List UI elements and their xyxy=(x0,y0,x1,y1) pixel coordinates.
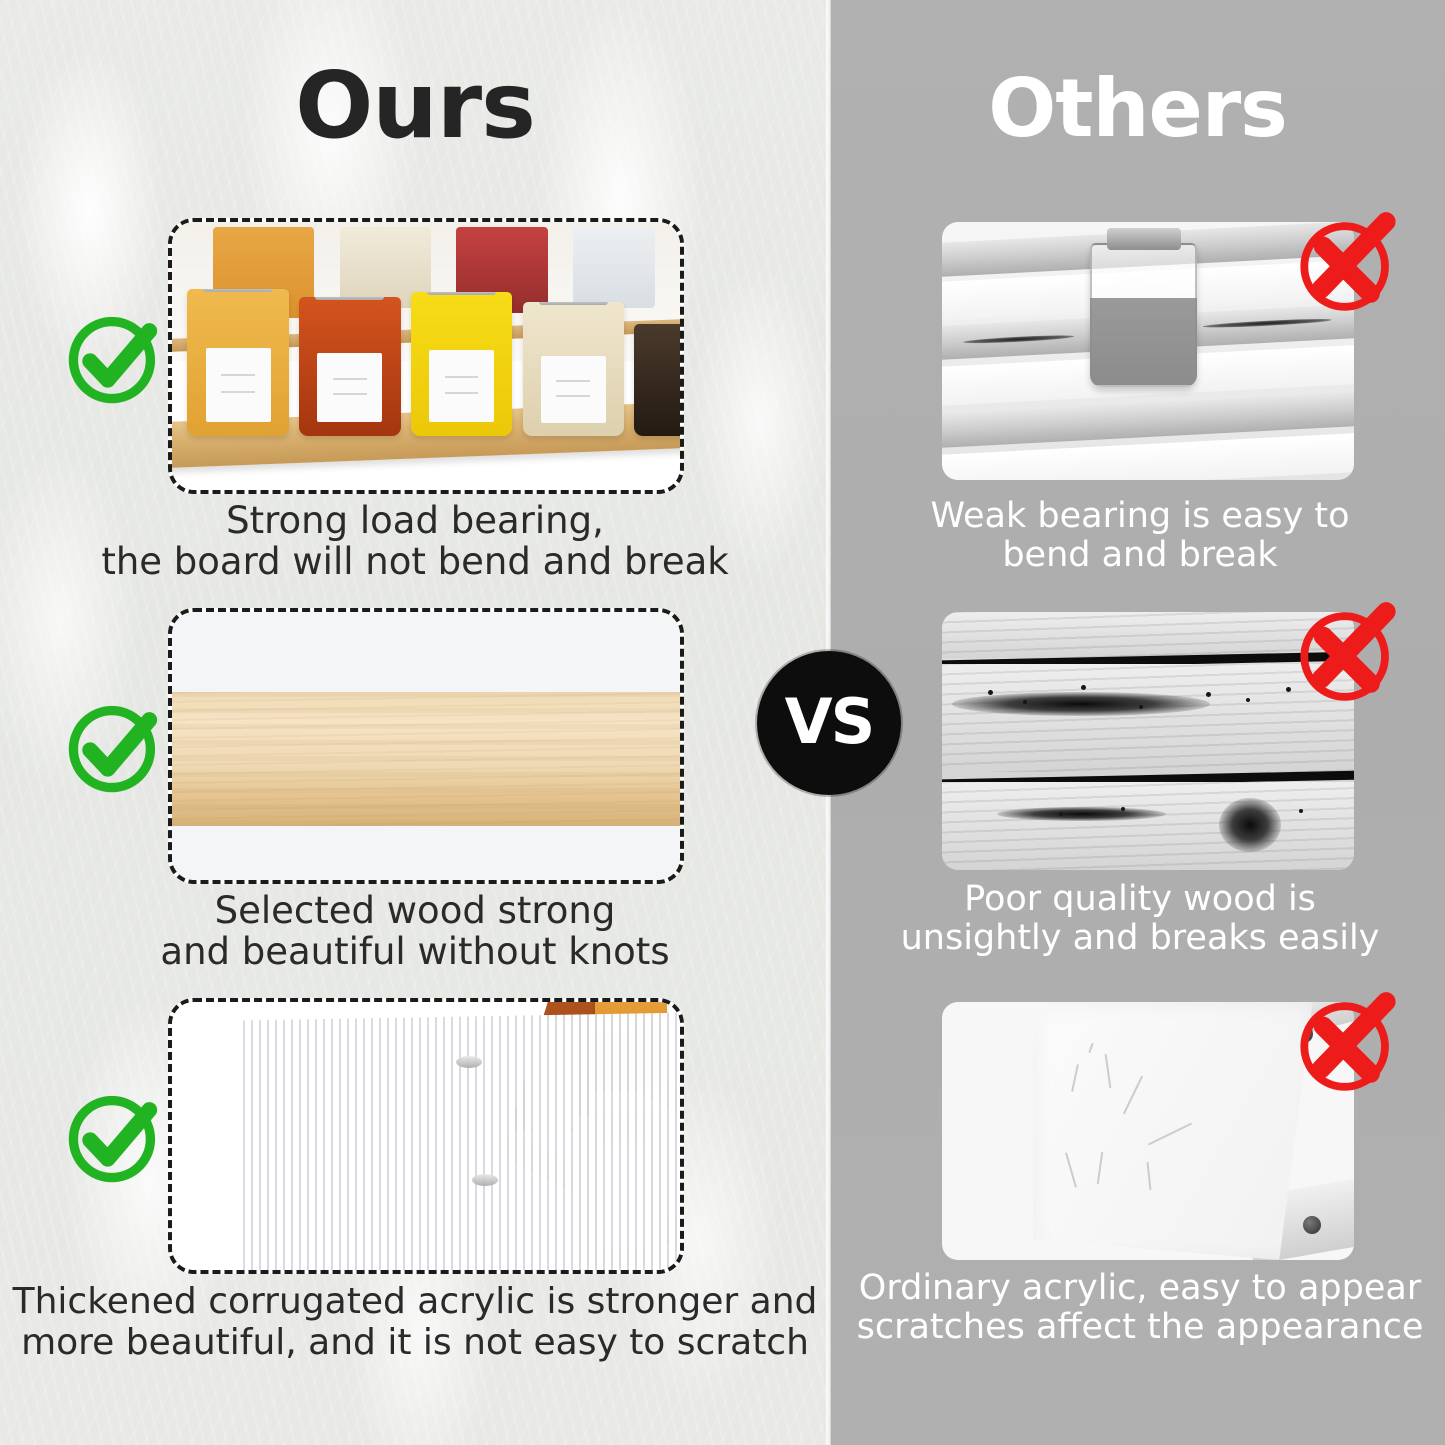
others-caption-2-line-1: Poor quality wood is xyxy=(850,880,1430,920)
ours-caption-2-line-2: and beautiful without knots xyxy=(0,931,830,972)
ours-heading: Ours xyxy=(0,52,830,159)
green-check-icon xyxy=(62,695,166,799)
red-x-icon-svg xyxy=(1292,596,1404,708)
red-x-icon xyxy=(1292,596,1404,708)
red-x-icon-svg xyxy=(1292,986,1404,1098)
green-check-icon-svg xyxy=(62,306,166,410)
others-caption-1-line-1: Weak bearing is easy to xyxy=(850,497,1430,537)
red-x-icon xyxy=(1292,986,1404,1098)
ours-caption-1-line-2: the board will not bend and break xyxy=(0,541,830,582)
others-caption-3-line-1: Ordinary acrylic, easy to appear xyxy=(850,1269,1430,1309)
others-heading: Others xyxy=(830,62,1445,155)
green-check-icon xyxy=(62,306,166,410)
vs-badge: VS xyxy=(757,651,901,795)
ours-caption-2-line-1: Selected wood strong xyxy=(0,890,830,931)
ours-caption-3-line-2: more beautiful, and it is not easy to sc… xyxy=(0,1323,830,1363)
ours-caption-3-line-1: Thickened corrugated acrylic is stronger… xyxy=(0,1282,830,1322)
ours-caption-1-line-1: Strong load bearing, xyxy=(0,500,830,541)
others-caption-1-line-2: bend and break xyxy=(850,536,1430,576)
red-x-icon-svg xyxy=(1292,206,1404,318)
green-check-icon-svg xyxy=(62,695,166,799)
others-caption-2-line-2: unsightly and breaks easily xyxy=(850,919,1430,959)
ours-image-load-bearing xyxy=(168,218,684,494)
green-check-icon xyxy=(62,1085,166,1189)
vs-badge-label: VS xyxy=(785,685,874,758)
ours-image-selected-wood xyxy=(168,608,684,884)
others-caption-3-line-2: scratches affect the appearance xyxy=(850,1308,1430,1348)
comparison-infographic: Ours Others xyxy=(0,0,1445,1445)
red-x-icon xyxy=(1292,206,1404,318)
green-check-icon-svg xyxy=(62,1085,166,1189)
ours-image-corrugated-acrylic xyxy=(168,998,684,1274)
